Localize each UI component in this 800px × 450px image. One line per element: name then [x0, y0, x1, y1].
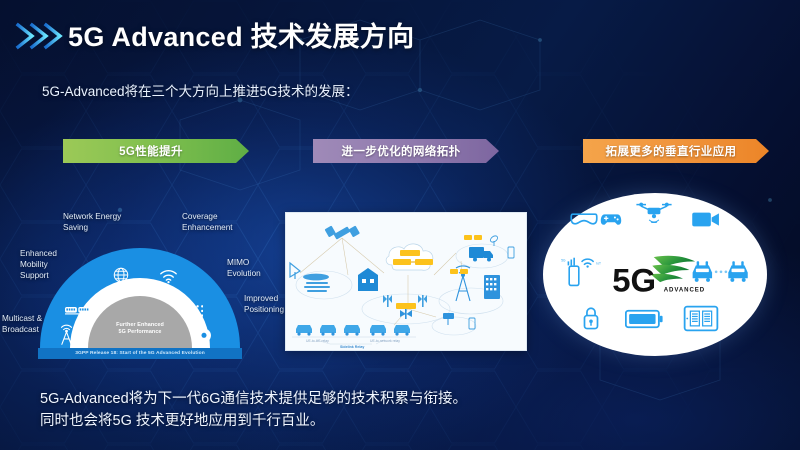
drone-icon	[633, 199, 675, 223]
5g-advanced-logo: 5G ADVANCED	[608, 251, 708, 299]
factory-icon	[358, 268, 378, 291]
network-topology-svg	[286, 213, 526, 350]
release-base-bar: 3GPP Release 18: Start of the 5G Advance…	[38, 348, 242, 359]
sidelink-relay-label: Sidelink Relay	[340, 345, 364, 349]
dish-antenna-icon	[290, 263, 300, 279]
broadcast-tower-icon	[58, 321, 75, 346]
vr-goggles-icon	[570, 211, 598, 227]
slide-canvas: 5G Advanced 技术发展方向 5G-Advanced将在三个大方向上推进…	[0, 0, 800, 450]
du-antenna-icon	[400, 309, 412, 319]
banner-topology[interactable]: 进一步优化的网络拓扑	[313, 139, 499, 163]
satellite-icon	[325, 226, 360, 240]
label-mimo-evolution: MIMO Evolution	[227, 257, 261, 279]
train-icon	[65, 304, 93, 315]
subtitle-text: 5G-Advanced将在三个大方向上推进5G技术的发展：	[42, 80, 359, 100]
banner-vertical-industry-label: 拓展更多的垂直行业应用	[606, 143, 737, 159]
cloud-icon	[386, 244, 433, 270]
banner-topology-label: 进一步优化的网络拓扑	[342, 143, 461, 159]
ocean-icon	[303, 274, 330, 292]
network-topology-card: UE-to-UE relay UE-to-network relay Sidel…	[285, 212, 527, 351]
label-enhanced-mobility-support: Enhanced Mobility Support	[20, 248, 57, 281]
relay-label-ue-to-network: UE-to-network relay	[370, 339, 400, 343]
svg-text:IoT: IoT	[596, 262, 601, 266]
left-capability-diagram: Further Enhanced 5G Performance 3GPP Rel…	[40, 248, 240, 358]
battery-icon	[625, 309, 663, 329]
truck-dish-icon	[489, 235, 499, 246]
vertical-applications-oval: 5G IoT	[543, 193, 767, 356]
du-node	[396, 303, 416, 309]
banner-performance-label: 5G性能提升	[119, 143, 183, 159]
vehicle-row	[296, 325, 410, 336]
smartphone-icon	[508, 247, 514, 258]
gamepad-icon	[600, 212, 622, 227]
globe-icon	[112, 266, 130, 284]
svg-text:5G: 5G	[561, 258, 566, 262]
page-title: 5G Advanced 技术发展方向	[68, 15, 414, 54]
location-pin-icon	[196, 328, 212, 347]
label-improved-positioning: Improved Positioning	[244, 293, 284, 315]
logo-subtext: ADVANCED	[664, 287, 705, 293]
bottom-summary-text: 5G-Advanced将为下一代6G通信技术提供足够的技术积累与衔接。 同时也会…	[40, 388, 467, 433]
tablet-icon	[683, 305, 719, 332]
banner-vertical-industry[interactable]: 拓展更多的垂直行业应用	[583, 139, 769, 163]
padlock-icon	[582, 305, 600, 331]
triple-chevron-right-icon	[12, 16, 70, 56]
banner-performance[interactable]: 5G性能提升	[63, 139, 249, 163]
label-coverage-enhancement: Coverage Enhancement	[182, 211, 233, 233]
mimo-grid-icon	[186, 304, 203, 321]
semicircle-core-label: Further Enhanced 5G Performance	[116, 308, 164, 337]
relay-label-ue-to-ue: UE-to-UE relay	[306, 339, 329, 343]
video-camera-icon	[691, 211, 721, 228]
router-icon	[443, 313, 454, 319]
truck-icon	[469, 247, 493, 262]
logo-text: 5G	[612, 261, 656, 298]
wifi-icon	[159, 268, 178, 284]
signal-phone-icon: 5G IoT	[561, 255, 603, 287]
label-network-energy-saving: Network Energy Saving	[63, 211, 121, 233]
label-multicast-broadcast: Multicast & Broadcast	[2, 313, 42, 335]
release-base-label: 3GPP Release 18: Start of the 5G Advance…	[75, 351, 205, 356]
